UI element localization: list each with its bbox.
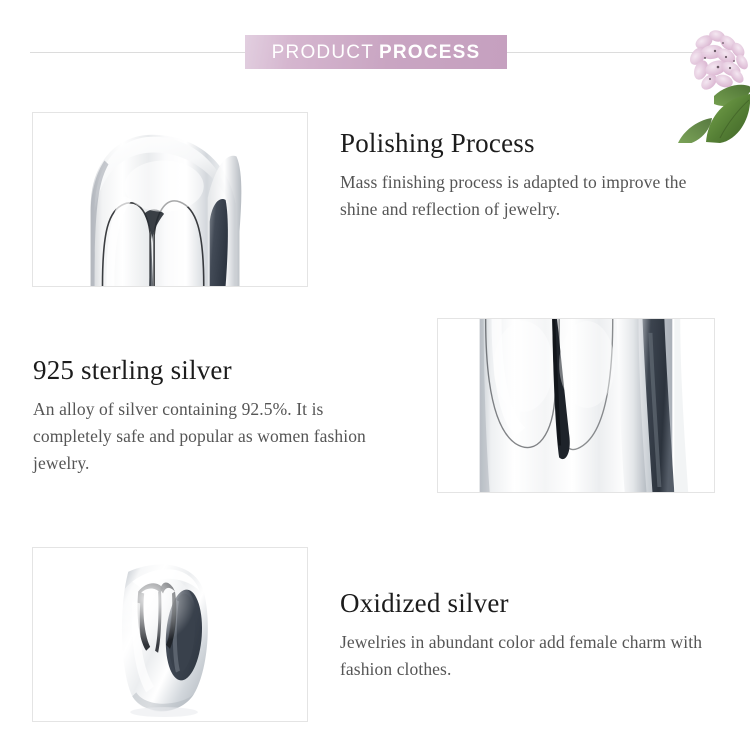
banner-title: PRODUCTPROCESS bbox=[272, 43, 481, 62]
text-block-925-sterling-silver: 925 sterling silver An alloy of silver c… bbox=[33, 355, 373, 477]
silver-bead-closeup-photo[interactable] bbox=[437, 318, 715, 493]
banner-title-light: PRODUCT bbox=[272, 42, 374, 63]
body-oxidized-silver: Jewelries in abundant color add female c… bbox=[340, 629, 710, 683]
page-header: PRODUCTPROCESS bbox=[0, 0, 750, 105]
text-block-oxidized-silver: Oxidized silver Jewelries in abundant co… bbox=[340, 588, 710, 683]
body-polishing-process: Mass finishing process is adapted to imp… bbox=[340, 169, 700, 223]
product-process-page: PRODUCTPROCESS bbox=[0, 0, 750, 750]
body-925-sterling-silver: An alloy of silver containing 92.5%. It … bbox=[33, 396, 373, 477]
heading-925-sterling-silver: 925 sterling silver bbox=[33, 355, 373, 387]
header-rule-right bbox=[507, 52, 722, 53]
floral-corner-icon bbox=[668, 18, 750, 143]
section-title-banner: PRODUCTPROCESS bbox=[245, 35, 507, 69]
silver-bead-macro-photo[interactable] bbox=[32, 112, 308, 287]
text-block-polishing-process: Polishing Process Mass finishing process… bbox=[340, 128, 700, 223]
heading-polishing-process: Polishing Process bbox=[340, 128, 700, 160]
banner-title-bold: PROCESS bbox=[379, 42, 480, 63]
silver-bead-full-photo[interactable] bbox=[32, 547, 308, 722]
heading-oxidized-silver: Oxidized silver bbox=[340, 588, 710, 620]
header-rule-left bbox=[30, 52, 245, 53]
